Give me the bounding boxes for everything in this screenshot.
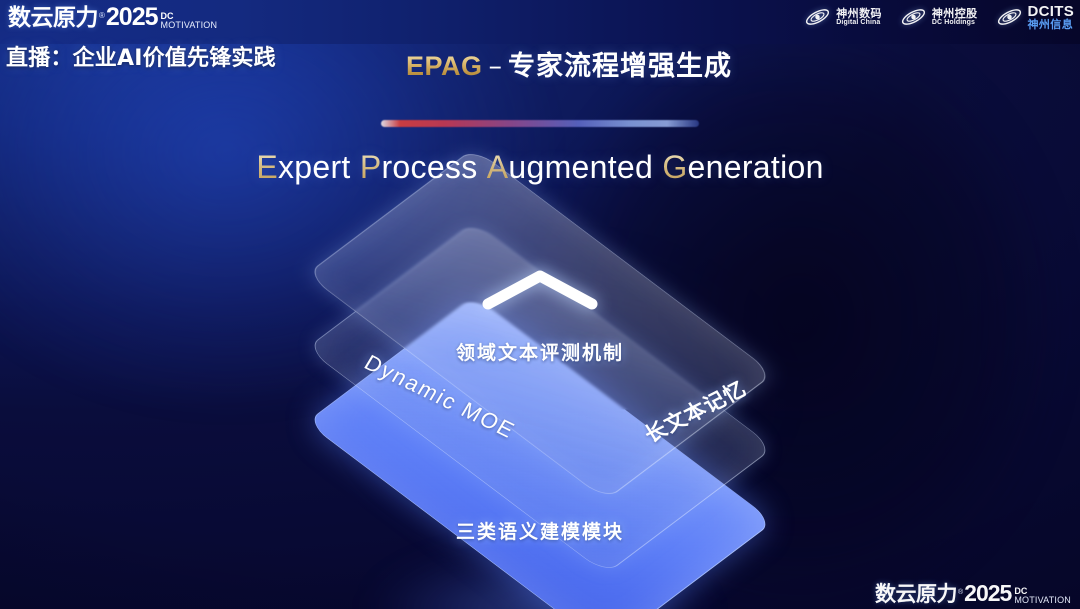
brand-motivation-label: MOTIVATION — [161, 21, 218, 29]
subhead-cap-e: E — [256, 149, 278, 185]
headline-divider — [381, 120, 699, 127]
brand-dc-motivation: DC MOTIVATION — [1014, 587, 1071, 604]
partner-label-dc-holdings: 神州控股 DC Holdings — [932, 8, 978, 26]
subhead-rest-augmented: ugmented — [508, 149, 653, 185]
partner-logo-strip: 神州数码 Digital China 神州控股 DC Holdings — [804, 4, 1074, 31]
headline-acronym: EPAG — [406, 51, 483, 81]
brand-dc-motivation: DC MOTIVATION — [161, 12, 218, 29]
swirl-icon — [900, 5, 927, 29]
partner-name-en: DC Holdings — [932, 19, 978, 26]
brand-logo-top-left: 数云原力 ® 2025 DC MOTIVATION — [8, 5, 217, 30]
headline-subtitle-cn: 专家流程增强生成 — [508, 51, 732, 82]
brand-registered-mark: ® — [99, 11, 105, 20]
partner-label-digital-china: 神州数码 Digital China — [836, 8, 882, 26]
partner-name-cn: 神州数码 — [836, 8, 882, 19]
diagram-label-bottom: 三类语义建模模块 — [456, 517, 624, 544]
partner-label-dcits: DCITS 神州信息 — [1028, 4, 1075, 31]
brand-year: 2025 — [964, 582, 1011, 605]
subhead-cap-p: P — [360, 149, 382, 185]
subhead-rest-expert: xpert — [278, 149, 351, 185]
partner-name-cn: 神州信息 — [1028, 19, 1075, 30]
partner-logo-dcits: DCITS 神州信息 — [996, 4, 1075, 31]
swirl-icon — [804, 5, 831, 29]
swirl-icon — [996, 5, 1023, 29]
subhead-rest-process: rocess — [381, 149, 477, 185]
subhead-cap-a: A — [487, 149, 509, 185]
brand-name-cn: 数云原力 — [875, 584, 957, 605]
subhead-rest-generation: eneration — [688, 149, 824, 185]
brand-name-cn: 数云原力 — [8, 7, 98, 30]
partner-logo-digital-china: 神州数码 Digital China — [804, 5, 882, 29]
slide-subheadline: Expert Process Augmented Generation — [0, 150, 1080, 185]
partner-name-cn: 神州控股 — [932, 8, 978, 19]
slide-canvas: 数云原力 ® 2025 DC MOTIVATION 直播：企业AI价值先锋实践 … — [0, 0, 1080, 609]
partner-logo-dc-holdings: 神州控股 DC Holdings — [900, 5, 978, 29]
live-session-title: 直播：企业AI价值先锋实践 — [6, 48, 276, 70]
brand-motivation-label: MOTIVATION — [1014, 596, 1071, 604]
headline-dash: – — [483, 51, 509, 82]
partner-name-en: DCITS — [1028, 4, 1075, 19]
brand-year: 2025 — [106, 5, 158, 30]
brand-logo-bottom-right: 数云原力 ® 2025 DC MOTIVATION — [875, 582, 1071, 605]
brand-registered-mark: ® — [958, 589, 963, 596]
chevron-up-icon — [480, 268, 600, 310]
diagram-label-top: 领域文本评测机制 — [456, 338, 624, 365]
partner-name-en: Digital China — [836, 19, 882, 26]
layered-architecture-diagram: 三类语义建模模块 Dynamic MOE 长文本记忆 领域文本评测机制 — [290, 234, 790, 594]
subhead-cap-g: G — [662, 149, 687, 185]
